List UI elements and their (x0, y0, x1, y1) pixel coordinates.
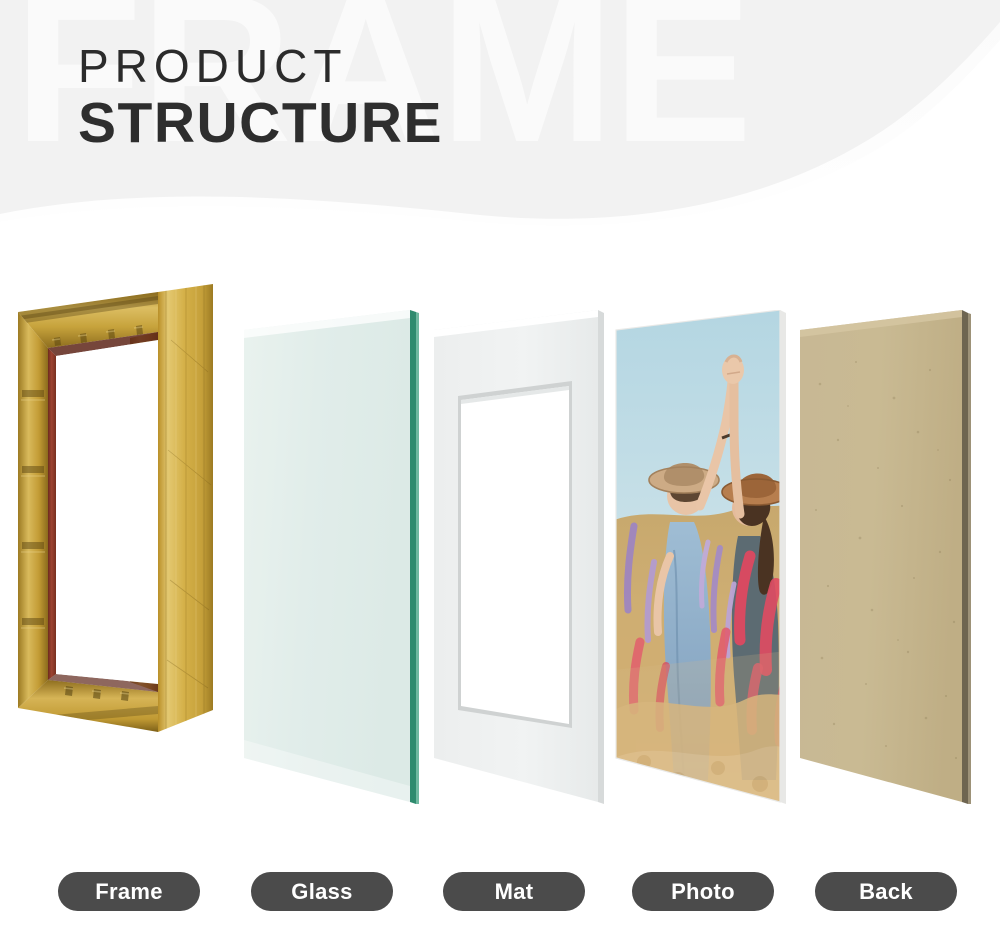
frame-opening (56, 340, 158, 684)
glass-edge-highlight (416, 312, 419, 804)
glass-surface (244, 310, 410, 802)
component-photo[interactable] (614, 310, 796, 820)
label-text-back: Back (859, 879, 913, 905)
page-title: PRODUCT STRUCTURE (78, 42, 443, 154)
frame-left-rail (18, 312, 48, 708)
back-right-edge-highlight (968, 313, 971, 804)
title-line-structure: STRUCTURE (78, 93, 443, 155)
component-frame[interactable] (8, 280, 240, 732)
component-label-row: Frame Glass Mat Photo Back (0, 872, 1000, 933)
label-pill-frame[interactable]: Frame (58, 872, 200, 911)
label-text-mat: Mat (495, 879, 534, 905)
mat-window-opening (461, 386, 569, 724)
photo-clasped-hands (722, 356, 744, 384)
back-right-edge (962, 310, 968, 804)
photo-right-edge (780, 310, 786, 804)
component-glass[interactable] (242, 310, 424, 820)
header-band: FRAME PRODUCT STRUCTURE (0, 0, 1000, 262)
mat-right-edge (598, 310, 604, 804)
label-text-glass: Glass (291, 879, 352, 905)
back-board (800, 310, 962, 802)
exploded-view-stage (0, 262, 1000, 872)
title-line-product: PRODUCT (78, 42, 443, 91)
component-back[interactable] (798, 310, 980, 820)
label-pill-photo[interactable]: Photo (632, 872, 774, 911)
label-pill-glass[interactable]: Glass (251, 872, 393, 911)
glass-edge (410, 310, 416, 804)
label-text-photo: Photo (671, 879, 735, 905)
label-pill-back[interactable]: Back (815, 872, 957, 911)
component-mat[interactable] (432, 310, 614, 820)
photo-image (614, 310, 796, 820)
label-text-frame: Frame (95, 879, 163, 905)
frame-outer-side-face (158, 280, 213, 732)
label-pill-mat[interactable]: Mat (443, 872, 585, 911)
